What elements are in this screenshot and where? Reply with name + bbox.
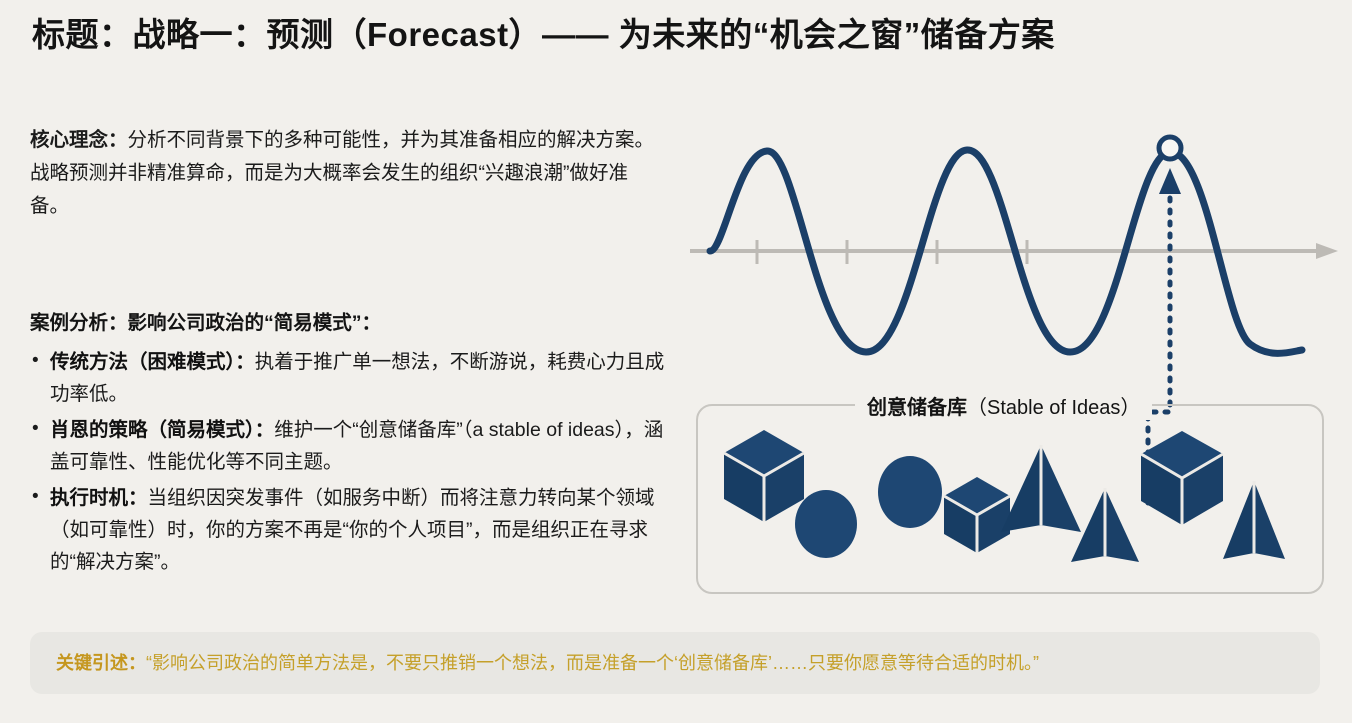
core-idea-block: 核心理念：分析不同背景下的多种可能性，并为其准备相应的解决方案。战略预测并非精准… <box>30 124 660 223</box>
opportunity-window-circle-icon <box>1159 137 1181 159</box>
case-study-list: 传统方法（困难模式）：执着于推广单一想法，不断游说，耗费心力且成功率低。 肖恩的… <box>30 346 666 578</box>
key-quote-body: “影响公司政治的简单方法是，不要只推销一个想法，而是准备一个‘创意储备库’……只… <box>146 653 1039 673</box>
legend-en: （Stable of Ideas） <box>967 397 1140 419</box>
bullet-lead: 肖恩的策略（简易模式）： <box>50 419 274 441</box>
list-item: 执行时机：当组织因突发事件（如服务中断）而将注意力转向某个领域（如可靠性）时，你… <box>30 482 666 578</box>
case-study-heading: 案例分析：影响公司政治的“简易模式”： <box>30 308 666 338</box>
bullet-lead: 执行时机： <box>50 487 148 509</box>
list-item: 传统方法（困难模式）：执着于推广单一想法，不断游说，耗费心力且成功率低。 <box>30 346 666 410</box>
legend-cn: 创意储备库 <box>867 397 967 419</box>
list-item: 肖恩的策略（简易模式）：维护一个“创意储备库”（a stable of idea… <box>30 414 666 478</box>
stable-of-ideas-legend: 创意储备库（Stable of Ideas） <box>855 396 1152 420</box>
case-study-block: 案例分析：影响公司政治的“简易模式”： 传统方法（困难模式）：执着于推广单一想法… <box>30 308 666 582</box>
core-idea-lead: 核心理念： <box>30 129 128 151</box>
stable-of-ideas-box <box>696 404 1324 594</box>
key-quote-bar: 关键引述：“影响公司政治的简单方法是，不要只推销一个想法，而是准备一个‘创意储备… <box>30 632 1320 694</box>
bullet-lead: 传统方法（困难模式）： <box>50 351 255 373</box>
slide-root: 标题：战略一：预测（Forecast）—— 为未来的“机会之窗”储备方案 核心理… <box>0 0 1352 723</box>
key-quote-lead: 关键引述： <box>56 653 146 673</box>
page-title: 标题：战略一：预测（Forecast）—— 为未来的“机会之窗”储备方案 <box>32 14 1322 57</box>
core-idea-paragraph: 核心理念：分析不同背景下的多种可能性，并为其准备相应的解决方案。战略预测并非精准… <box>30 124 660 223</box>
key-quote-text: 关键引述：“影响公司政治的简单方法是，不要只推销一个想法，而是准备一个‘创意储备… <box>56 650 1039 676</box>
